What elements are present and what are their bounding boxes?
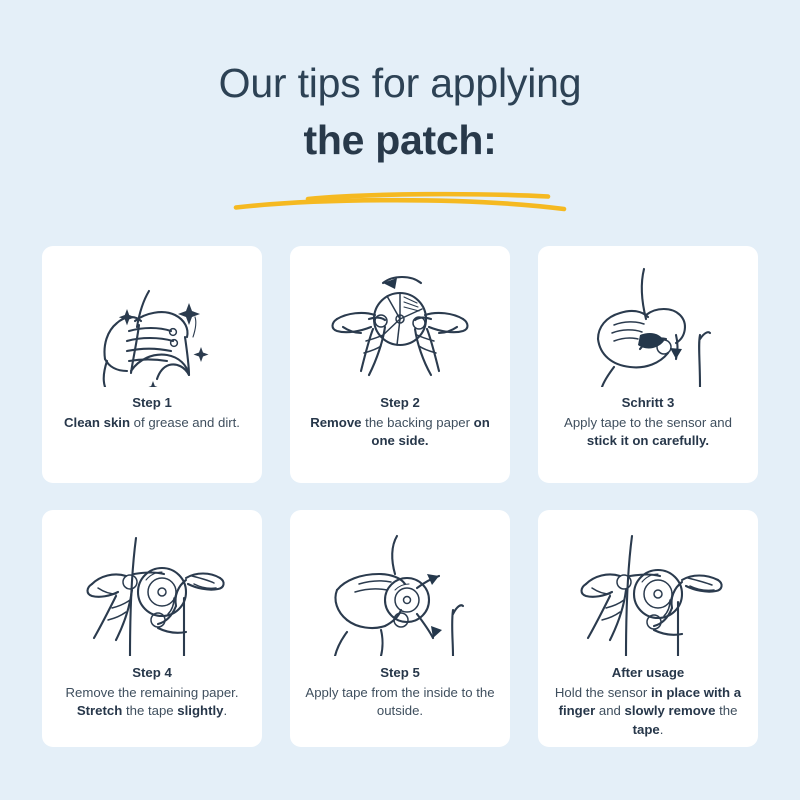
step-card-text: Step 1 Clean skin of grease and dirt.	[56, 394, 248, 432]
step-card-step-3: Schritt 3 Apply tape to the sensor and s…	[538, 246, 758, 483]
step-card-body: Apply tape from the inside to the outsid…	[305, 685, 494, 719]
step-card-step-1: Step 1 Clean skin of grease and dirt.	[42, 246, 262, 483]
hand-smoothing-tape-outward-arrows-icon	[304, 526, 496, 658]
step-card-step-4: Step 4 Remove the remaining paper. Stret…	[42, 510, 262, 747]
hands-removing-remaining-paper-icon	[56, 526, 248, 658]
step-card-title: Step 5	[304, 664, 496, 683]
step-card-title: Schritt 3	[552, 394, 744, 413]
step-card-after-usage: After usage Hold the sensor in place wit…	[538, 510, 758, 747]
step-card-title: Step 1	[56, 394, 248, 413]
step-card-text: Step 2 Remove the backing paper on one s…	[304, 394, 496, 451]
step-card-step-2: Step 2 Remove the backing paper on one s…	[290, 246, 510, 483]
heading-line-2: the patch:	[0, 114, 800, 167]
step-card-text: Schritt 3 Apply tape to the sensor and s…	[552, 394, 744, 451]
step-card-title: Step 4	[56, 664, 248, 683]
step-card-body: Clean skin of grease and dirt.	[64, 415, 240, 430]
step-card-body: Apply tape to the sensor and stick it on…	[564, 415, 732, 449]
step-card-body: Remove the backing paper on one side.	[310, 415, 490, 449]
yellow-swoosh-icon	[230, 185, 570, 215]
step-card-title: After usage	[552, 664, 744, 683]
step-card-text: Step 5 Apply tape from the inside to the…	[304, 664, 496, 721]
hand-wiping-skin-with-cloth-icon	[56, 262, 248, 388]
step-card-title: Step 2	[304, 394, 496, 413]
step-card-body: Remove the remaining paper. Stretch the …	[65, 685, 238, 719]
two-hands-peeling-backing-paper-icon	[304, 262, 496, 388]
underline-decoration	[0, 185, 800, 221]
hands-holding-sensor-removing-tape-icon	[552, 526, 744, 658]
step-card-text: Step 4 Remove the remaining paper. Stret…	[56, 664, 248, 721]
page-heading: Our tips for applying the patch:	[0, 0, 800, 167]
step-card-body: Hold the sensor in place with a finger a…	[555, 685, 741, 737]
step-card-step-5: Step 5 Apply tape from the inside to the…	[290, 510, 510, 747]
heading-line-1: Our tips for applying	[0, 58, 800, 108]
instruction-infographic: Our tips for applying the patch:	[0, 0, 800, 800]
steps-grid: Step 1 Clean skin of grease and dirt.	[42, 246, 758, 747]
hand-applying-tape-to-sensor-icon	[552, 262, 744, 388]
step-card-text: After usage Hold the sensor in place wit…	[552, 664, 744, 740]
